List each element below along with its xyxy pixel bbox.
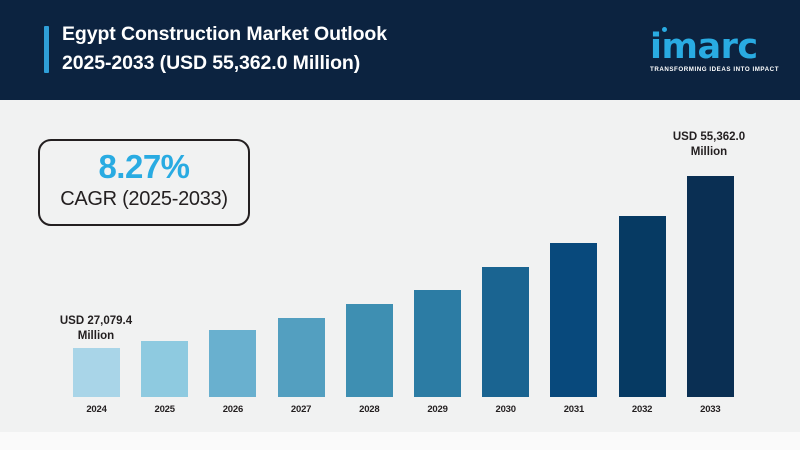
bar-year-label: 2025 <box>137 404 192 415</box>
bar-year-label: 2032 <box>615 404 670 415</box>
imarc-logo[interactable]: imarc TRANSFORMING IDEAS INTO IMPACT <box>650 26 778 78</box>
bar[interactable] <box>687 176 734 397</box>
bar[interactable] <box>73 348 120 397</box>
bar-group[interactable]: 2029 <box>414 290 461 397</box>
bar-year-label: 2024 <box>69 404 124 415</box>
bar-group[interactable]: 2032 <box>619 216 666 397</box>
bar[interactable] <box>278 318 325 397</box>
bar[interactable] <box>414 290 461 397</box>
bar-year-label: 2028 <box>342 404 397 415</box>
bar-group[interactable]: 2031 <box>550 243 597 397</box>
bar[interactable] <box>209 330 256 397</box>
logo-wordmark: imarc <box>650 28 778 66</box>
bar-group[interactable]: 2026 <box>209 330 256 397</box>
footer-strip <box>0 432 800 450</box>
bar-group[interactable]: 2027 <box>278 318 325 397</box>
bar-year-label: 2029 <box>410 404 465 415</box>
bar-group[interactable]: 2028 <box>346 304 393 397</box>
bar-group[interactable]: 2033 <box>687 176 734 397</box>
page-title-line-2: 2025-2033 (USD 55,362.0 Million) <box>62 49 662 78</box>
infographic-root: Egypt Construction Market Outlook 2025-2… <box>0 0 800 450</box>
page-title: Egypt Construction Market Outlook 2025-2… <box>62 20 662 78</box>
header-accent-bar <box>44 26 49 73</box>
bar-year-label: 2030 <box>478 404 533 415</box>
bar[interactable] <box>619 216 666 397</box>
page-title-line-1: Egypt Construction Market Outlook <box>62 20 662 49</box>
bar-group[interactable]: 2025 <box>141 341 188 397</box>
bar[interactable] <box>346 304 393 397</box>
bar-year-label: 2033 <box>683 404 738 415</box>
bar[interactable] <box>482 267 529 397</box>
logo-tagline: TRANSFORMING IDEAS INTO IMPACT <box>650 66 778 73</box>
bar-group[interactable]: 2024 <box>73 348 120 397</box>
bar-chart: 2024202520262027202820292030203120322033 <box>0 100 800 432</box>
header-bar: Egypt Construction Market Outlook 2025-2… <box>0 0 800 100</box>
bar-group[interactable]: 2030 <box>482 267 529 397</box>
bar-year-label: 2031 <box>546 404 601 415</box>
bar[interactable] <box>141 341 188 397</box>
bar-year-label: 2027 <box>274 404 329 415</box>
bar[interactable] <box>550 243 597 397</box>
bar-year-label: 2026 <box>205 404 260 415</box>
